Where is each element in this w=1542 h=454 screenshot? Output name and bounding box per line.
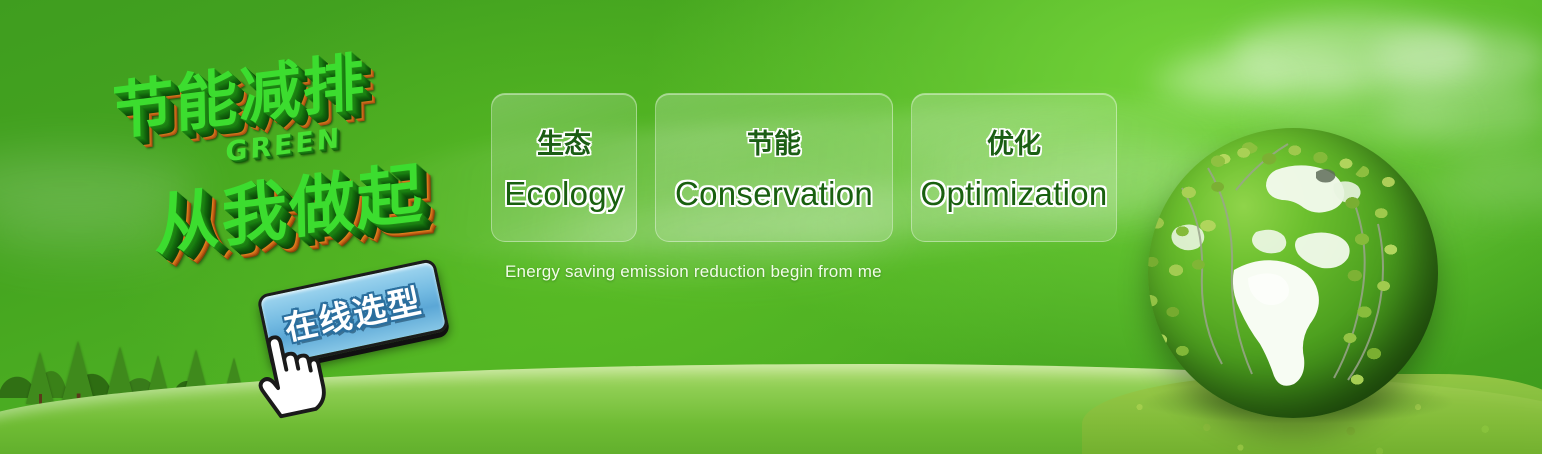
tagline: Energy saving emission reduction begin f… [505,262,882,282]
feature-card-conservation[interactable]: 节能 Conservation [655,93,893,242]
feature-card-cn-label: 优化 [987,122,1041,161]
feature-card-en-label: Optimization [921,175,1108,213]
feature-card-ecology[interactable]: 生态 Ecology [491,93,637,242]
feature-card-cn-label: 节能 [747,122,801,161]
feature-card-cn-label: 生态 [537,122,591,161]
feature-card-en-label: Conservation [675,175,873,213]
green-energy-banner: 节能减排 GREEN 从我做起 在线选型 生态 Ecology 节能 Conse… [0,0,1542,454]
feature-cards: 生态 Ecology 节能 Conservation 优化 Optimizati… [491,93,1117,242]
feature-card-optimization[interactable]: 优化 Optimization [911,93,1117,242]
ivy-covered-earth-globe-icon [1148,128,1454,428]
headline-line-2: 从我做起 [153,139,425,269]
headline-graphic: 节能减排 GREEN 从我做起 [95,38,495,273]
online-selection-button[interactable]: 在线选型 [256,258,449,368]
feature-card-en-label: Ecology [504,175,624,213]
